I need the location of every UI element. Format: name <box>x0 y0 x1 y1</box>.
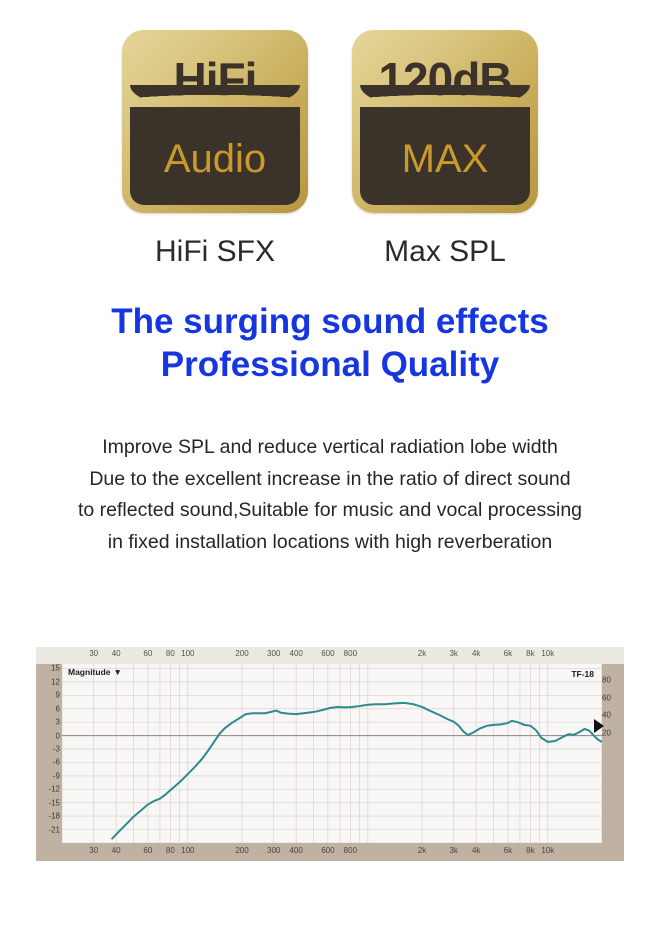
freq-tick-300: 300 <box>267 846 280 855</box>
response-curve-svg <box>62 664 602 843</box>
magnitude-dropdown-label: Magnitude <box>68 667 111 677</box>
freq-tick-200: 200 <box>235 846 248 855</box>
headline-line-1: The surging sound effects <box>0 300 660 343</box>
y-tick-right-20: 20 <box>602 729 622 738</box>
y-tick-left--15: -15 <box>38 798 60 807</box>
frequency-response-chart: 304060801002003004006008002k3k4k6k8k10k … <box>36 647 624 861</box>
y-tick-right-60: 60 <box>602 693 622 702</box>
freq-tick-100: 100 <box>181 649 194 658</box>
y-tick-left-6: 6 <box>38 704 60 713</box>
y-tick-left--12: -12 <box>38 785 60 794</box>
paragraph-line-4: in fixed installation locations with hig… <box>0 527 660 559</box>
badge-column-hifi: HiFi Audio HiFi SFX <box>118 30 313 269</box>
y-tick-left-15: 15 <box>38 664 60 673</box>
badge-dark-panel: MAX <box>360 107 530 205</box>
freq-tick-10k: 10k <box>541 649 554 658</box>
badge-bottom-text: MAX <box>402 139 489 179</box>
freq-tick-6k: 6k <box>504 846 512 855</box>
freq-tick-4k: 4k <box>472 846 480 855</box>
headline-line-2: Professional Quality <box>0 343 660 386</box>
playhead-marker-icon[interactable] <box>594 719 604 733</box>
freq-tick-600: 600 <box>321 649 334 658</box>
plot-area: Magnitude▼ TF-18 <box>62 664 602 843</box>
freq-tick-3k: 3k <box>449 649 457 658</box>
paragraph-line-3: to reflected sound,Suitable for music an… <box>0 495 660 527</box>
freq-tick-300: 300 <box>267 649 280 658</box>
freq-tick-30: 30 <box>89 649 98 658</box>
magnitude-dropdown[interactable]: Magnitude▼ <box>68 667 122 677</box>
hifi-audio-badge-icon: HiFi Audio <box>122 30 308 213</box>
freq-tick-600: 600 <box>321 846 334 855</box>
y-tick-left--6: -6 <box>38 758 60 767</box>
y-tick-right-40: 40 <box>602 711 622 720</box>
headline: The surging sound effects Professional Q… <box>0 300 660 387</box>
freq-tick-40: 40 <box>112 846 121 855</box>
freq-tick-400: 400 <box>289 846 302 855</box>
y-tick-left--21: -21 <box>38 825 60 834</box>
freq-tick-3k: 3k <box>449 846 457 855</box>
freq-tick-6k: 6k <box>504 649 512 658</box>
badge-column-maxspl: 120dB MAX Max SPL <box>348 30 543 269</box>
y-tick-right-80: 80 <box>602 675 622 684</box>
freq-tick-200: 200 <box>235 649 248 658</box>
freq-tick-2k: 2k <box>418 649 426 658</box>
description-paragraph: Improve SPL and reduce vertical radiatio… <box>0 432 660 558</box>
y-tick-left-0: 0 <box>38 731 60 740</box>
device-label: TF-18 <box>571 669 594 679</box>
frequency-axis-top: 304060801002003004006008002k3k4k6k8k10k <box>36 647 624 664</box>
frequency-axis-bottom: 304060801002003004006008002k3k4k6k8k10k <box>36 843 624 861</box>
y-tick-left--18: -18 <box>38 812 60 821</box>
y-tick-left--9: -9 <box>38 771 60 780</box>
badge-bottom-text: Audio <box>164 139 266 179</box>
freq-tick-80: 80 <box>166 846 175 855</box>
freq-tick-8k: 8k <box>526 846 534 855</box>
freq-tick-80: 80 <box>166 649 175 658</box>
chevron-down-icon: ▼ <box>114 667 122 677</box>
paragraph-line-2: Due to the excellent increase in the rat… <box>0 464 660 496</box>
y-tick-left-9: 9 <box>38 691 60 700</box>
freq-tick-60: 60 <box>143 846 152 855</box>
freq-tick-100: 100 <box>181 846 194 855</box>
freq-tick-40: 40 <box>112 649 121 658</box>
freq-tick-400: 400 <box>289 649 302 658</box>
freq-tick-10k: 10k <box>541 846 554 855</box>
freq-tick-800: 800 <box>344 649 357 658</box>
max-spl-badge-icon: 120dB MAX <box>352 30 538 213</box>
y-tick-left-12: 12 <box>38 677 60 686</box>
freq-tick-2k: 2k <box>418 846 426 855</box>
freq-tick-8k: 8k <box>526 649 534 658</box>
y-tick-left-3: 3 <box>38 718 60 727</box>
freq-tick-4k: 4k <box>472 649 480 658</box>
y-tick-left--3: -3 <box>38 745 60 754</box>
paragraph-line-1: Improve SPL and reduce vertical radiatio… <box>0 432 660 464</box>
badge-row: HiFi Audio HiFi SFX 120dB MAX Max SPL <box>0 30 660 269</box>
freq-tick-30: 30 <box>89 846 98 855</box>
freq-tick-800: 800 <box>344 846 357 855</box>
badge-caption-hifi-sfx: HiFi SFX <box>155 235 275 269</box>
badge-dark-panel: Audio <box>130 107 300 205</box>
freq-tick-60: 60 <box>143 649 152 658</box>
badge-caption-max-spl: Max SPL <box>384 235 506 269</box>
